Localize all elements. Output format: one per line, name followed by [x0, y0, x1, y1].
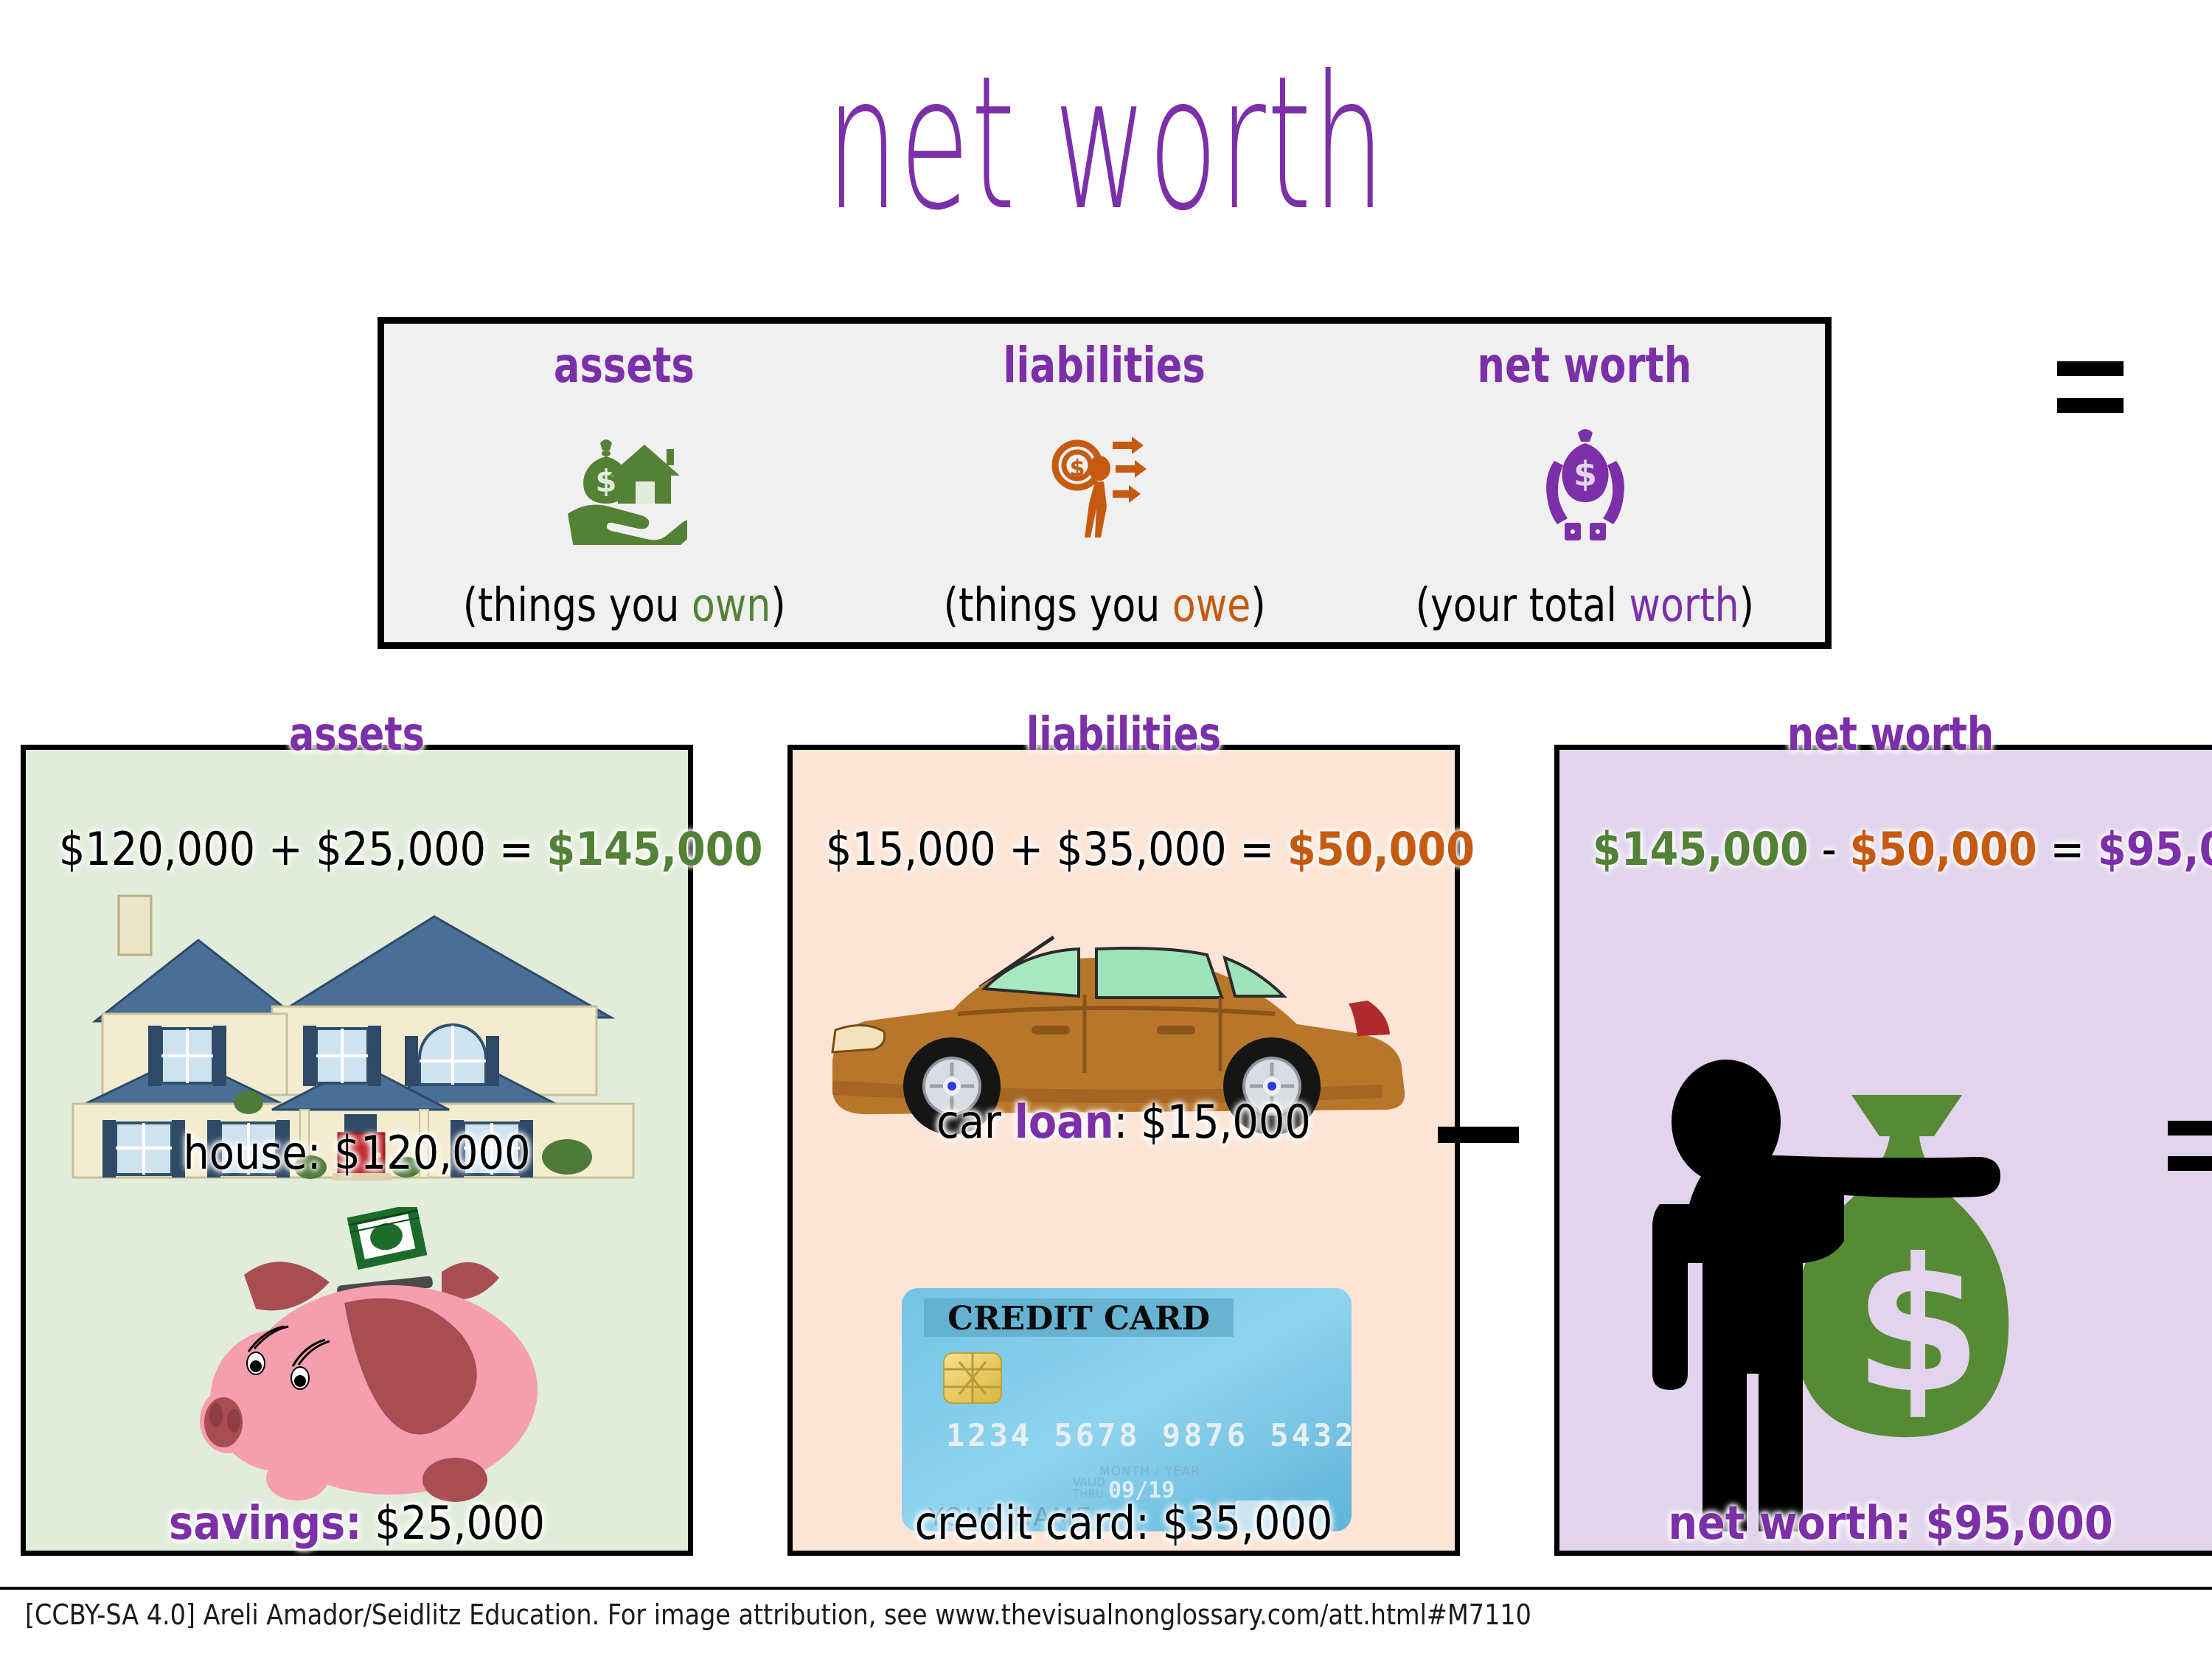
panel-title-liabilities: liabilities: [852, 707, 1395, 761]
networth-eq-a: $145,000: [1593, 822, 1809, 876]
legend-column-liabilities: liabilities $ (things you ow: [864, 324, 1344, 642]
equals-bar-bottom: [2057, 398, 2124, 413]
panel-assets: assets $120,000 + $25,000 = $145,000: [21, 745, 693, 1556]
assets-eq-op: +: [268, 822, 303, 876]
liability-item-label-credit-card: credit card: $35,000: [826, 1496, 1422, 1550]
legend-desc-networth-highlight: worth: [1629, 578, 1739, 632]
assets-eq-total: $145,000: [546, 822, 762, 876]
equals-sign-icon: [2057, 361, 2124, 413]
legend-column-assets: assets $ (things you own): [384, 324, 864, 642]
savings-label-value: $25,000: [362, 1496, 545, 1550]
legend-desc-assets-post: ): [771, 578, 785, 632]
person-paying-money-icon: $: [1042, 423, 1167, 549]
svg-text:$: $: [595, 463, 616, 499]
assets-eq-b: $25,000: [316, 822, 486, 876]
definition-legend-box: assets $ (things you own): [378, 317, 1832, 649]
legend-desc-assets-highlight: own: [692, 578, 771, 632]
legend-term-networth: net worth: [1478, 337, 1692, 394]
networth-label-text: net worth: $95,000: [1668, 1496, 2112, 1550]
legend-desc-networth-post: ): [1739, 578, 1754, 632]
svg-text:$: $: [1854, 1219, 1982, 1433]
panel-title-networth: net worth: [1619, 707, 2162, 761]
footer-divider: [0, 1587, 2212, 1590]
liabilities-eq-b: $35,000: [1057, 822, 1227, 876]
savings-label-text: savings:: [169, 1496, 362, 1550]
networth-eq-op: -: [1822, 822, 1837, 876]
legend-desc-liabilities-pre: (things you: [943, 578, 1172, 632]
networth-eq-total: $95,000: [2098, 822, 2212, 876]
liabilities-eq-a: $15,000: [826, 822, 996, 876]
panel-equation-assets: $120,000 + $25,000 = $145,000: [59, 822, 655, 876]
legend-desc-networth-pre: (your total: [1416, 578, 1630, 632]
house-label-text: house:: [183, 1126, 334, 1180]
piggy-bank-illustration: [197, 1207, 595, 1520]
legend-term-assets: assets: [554, 337, 695, 394]
house-label-value: $120,000: [334, 1126, 530, 1180]
legend-desc-liabilities-highlight: owe: [1172, 578, 1251, 632]
asset-item-label-savings: savings: $25,000: [59, 1496, 655, 1550]
networth-eq-equals: =: [2050, 822, 2084, 876]
panel-title-assets: assets: [86, 707, 628, 761]
equals-bar-right-bottom: [2168, 1156, 2212, 1171]
minus-sign-icon: [1438, 1127, 1519, 1143]
car-loan-label-value: : $15,000: [1114, 1095, 1311, 1149]
panel-liabilities: liabilities $15,000 + $35,000 = $50,000: [787, 745, 1460, 1556]
panel-equation-liabilities: $15,000 + $35,000 = $50,000: [826, 822, 1422, 876]
infographic-page: net worth assets $: [0, 0, 2212, 1659]
credit-card-label-pre: credit card:: [915, 1496, 1163, 1550]
attribution-text: [CCBY-SA 4.0] Areli Amador/Seidlitz Educ…: [25, 1599, 1531, 1631]
liability-item-label-car-loan: car loan: $15,000: [826, 1095, 1422, 1149]
svg-text:$: $: [1070, 456, 1085, 481]
credit-card-label-value: $35,000: [1163, 1496, 1333, 1550]
page-title: net worth: [420, 52, 1792, 236]
assets-eq-equals: =: [499, 822, 534, 876]
liabilities-eq-total: $50,000: [1287, 822, 1475, 876]
legend-desc-assets: (things you own): [463, 578, 786, 632]
liabilities-eq-op: +: [1009, 822, 1043, 876]
legend-desc-liabilities-post: ): [1251, 578, 1265, 632]
credit-card-brand-text: CREDIT CARD: [947, 1300, 1210, 1338]
car-loan-label-pre: car: [936, 1095, 1015, 1149]
liabilities-eq-equals: =: [1239, 822, 1274, 876]
panel-equation-networth: $145,000 - $50,000 = $95,000: [1593, 822, 2188, 876]
networth-eq-b: $50,000: [1850, 822, 2037, 876]
networth-item-label: net worth: $95,000: [1593, 1496, 2188, 1550]
equals-bar-top: [2057, 361, 2124, 376]
asset-item-label-house: house: $120,000: [59, 1126, 655, 1180]
equals-sign-icon-right: [2168, 1121, 2212, 1171]
legend-term-liabilities: liabilities: [1004, 337, 1206, 394]
legend-desc-assets-pre: (things you: [463, 578, 692, 632]
credit-card-number-text: 1234 5678 9876 5432: [946, 1417, 1352, 1453]
svg-text:$: $: [1573, 454, 1597, 494]
hand-holding-house-moneybag-icon: $: [562, 423, 687, 549]
legend-desc-liabilities: (things you owe): [943, 578, 1265, 632]
legend-column-networth: net worth $ (yo: [1345, 324, 1825, 642]
assets-eq-a: $120,000: [59, 822, 255, 876]
person-with-moneybag-illustration: $: [1630, 1060, 2146, 1535]
legend-desc-networth: (your total worth): [1416, 578, 1754, 632]
car-loan-label-highlight: loan: [1015, 1095, 1114, 1149]
panel-networth: net worth $145,000 - $50,000 = $95,000 $: [1554, 745, 2212, 1556]
hands-holding-moneybag-icon: $: [1522, 423, 1647, 549]
credit-card-month-year-label: MONTH / YEAR: [1099, 1464, 1200, 1479]
equals-bar-right-top: [2168, 1121, 2212, 1135]
